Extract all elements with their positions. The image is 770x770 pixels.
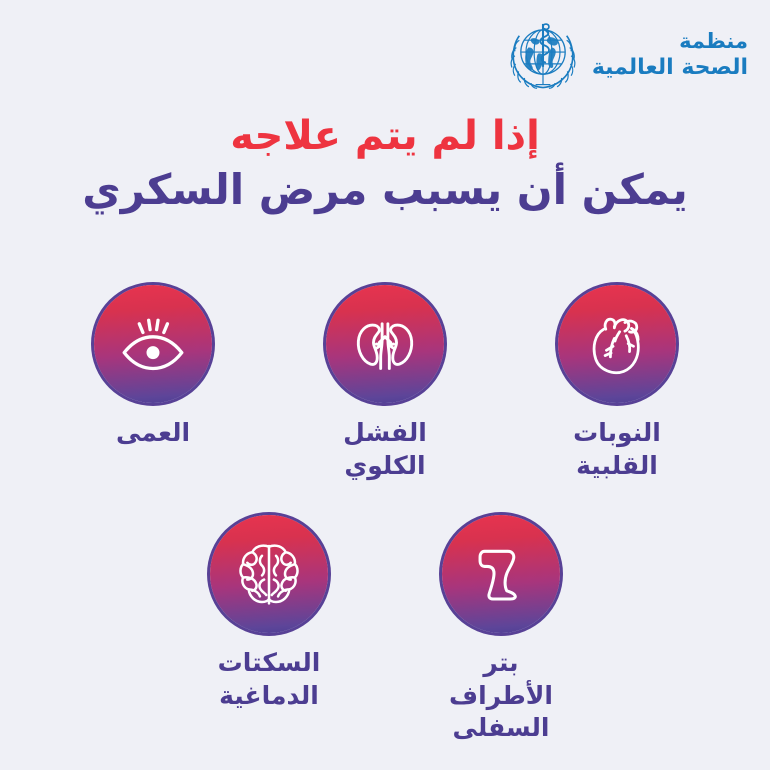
kidneys-icon — [349, 308, 421, 380]
leg-icon — [471, 542, 531, 606]
leg-badge — [442, 515, 560, 633]
complication-label-heart-attacks: النوبات القلبية — [573, 417, 661, 482]
complications-row-2: بتر الأطراف السفلى — [0, 515, 770, 745]
who-wordmark-line2: الصحة العالمية — [592, 54, 748, 81]
who-wordmark: منظمة الصحة العالمية — [592, 28, 748, 81]
complication-item-kidney-failure: الفشل الكلوي — [315, 285, 455, 482]
infographic-canvas: منظمة الصحة العالمية إذا لم يتم علاجه يم… — [0, 0, 770, 770]
complication-label-lower-limb-amputation: بتر الأطراف السفلى — [431, 647, 571, 745]
who-wordmark-line1: منظمة — [592, 28, 748, 54]
eye-icon — [117, 308, 189, 380]
headline: إذا لم يتم علاجه يمكن أن يسبب مرض السكري — [0, 112, 770, 217]
complications-row-1: النوبات القلبية — [0, 285, 770, 482]
brain-badge — [210, 515, 328, 633]
complication-item-strokes: السكتات الدماغية — [199, 515, 339, 745]
heart-icon — [584, 309, 650, 379]
complication-item-heart-attacks: النوبات القلبية — [547, 285, 687, 482]
who-logo: منظمة الصحة العالمية — [506, 18, 748, 92]
complication-label-blindness: العمى — [116, 417, 190, 450]
eye-badge — [94, 285, 212, 403]
headline-line-1: إذا لم يتم علاجه — [0, 112, 770, 161]
complication-label-strokes: السكتات الدماغية — [218, 647, 321, 712]
kidneys-badge — [326, 285, 444, 403]
complication-item-lower-limb-amputation: بتر الأطراف السفلى — [431, 515, 571, 745]
complication-item-blindness: العمى — [83, 285, 223, 482]
who-emblem-icon — [506, 18, 580, 92]
brain-icon — [234, 539, 304, 609]
heart-badge — [558, 285, 676, 403]
complication-label-kidney-failure: الفشل الكلوي — [343, 417, 427, 482]
headline-line-2: يمكن أن يسبب مرض السكري — [0, 163, 770, 218]
